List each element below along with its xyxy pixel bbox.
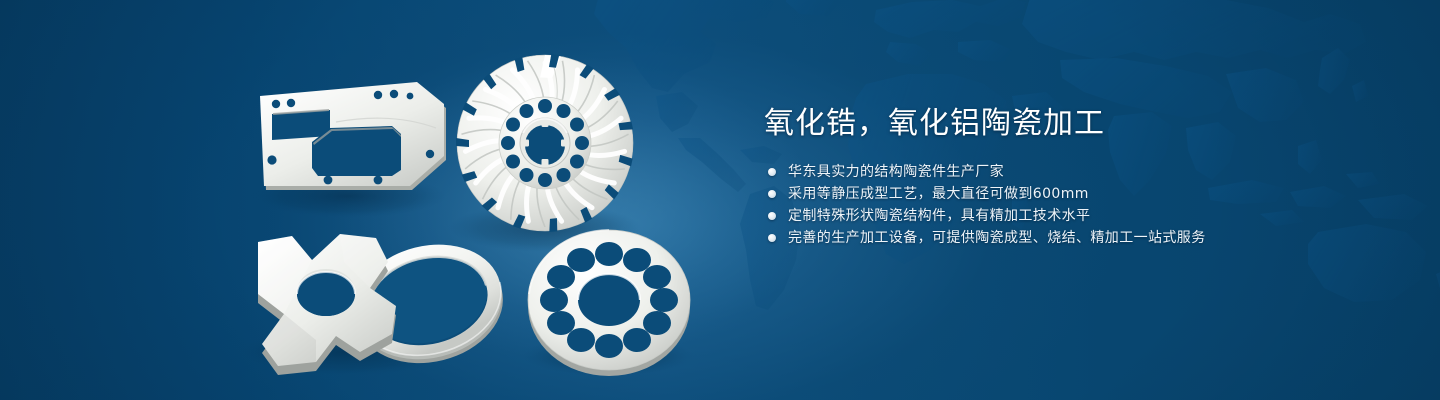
feature-list-item: 华东具实力的结构陶瓷件生产厂家 xyxy=(764,164,1384,180)
feature-text: 完善的生产加工设备，可提供陶瓷成型、烧结、精加工一站式服务 xyxy=(788,230,1206,246)
promo-banner: 氧化锆，氧化铝陶瓷加工 华东具实力的结构陶瓷件生产厂家 采用等静压成型工艺，最大… xyxy=(0,0,1440,400)
bullet-dot-icon xyxy=(768,168,776,176)
feature-list-item: 采用等静压成型工艺，最大直径可做到600mm xyxy=(764,186,1384,202)
feature-text: 华东具实力的结构陶瓷件生产厂家 xyxy=(788,164,1004,180)
bullet-dot-icon xyxy=(768,212,776,220)
ceramic-plate-part xyxy=(260,82,446,190)
ceramic-flange-disc-part xyxy=(528,230,690,376)
feature-text: 采用等静压成型工艺，最大直径可做到600mm xyxy=(788,186,1089,202)
feature-list-item: 完善的生产加工设备，可提供陶瓷成型、烧结、精加工一站式服务 xyxy=(764,230,1384,246)
banner-copy-block: 氧化锆，氧化铝陶瓷加工 华东具实力的结构陶瓷件生产厂家 采用等静压成型工艺，最大… xyxy=(764,104,1384,252)
bullet-dot-icon xyxy=(768,234,776,242)
bullet-dot-icon xyxy=(768,190,776,198)
banner-feature-list: 华东具实力的结构陶瓷件生产厂家 采用等静压成型工艺，最大直径可做到600mm 定… xyxy=(764,164,1384,246)
ceramic-impeller-part xyxy=(456,54,633,232)
ceramic-products-image xyxy=(0,0,760,400)
feature-text: 定制特殊形状陶瓷结构件，具有精加工技术水平 xyxy=(788,208,1090,224)
banner-headline: 氧化锆，氧化铝陶瓷加工 xyxy=(764,104,1384,144)
feature-list-item: 定制特殊形状陶瓷结构件，具有精加工技术水平 xyxy=(764,208,1384,224)
